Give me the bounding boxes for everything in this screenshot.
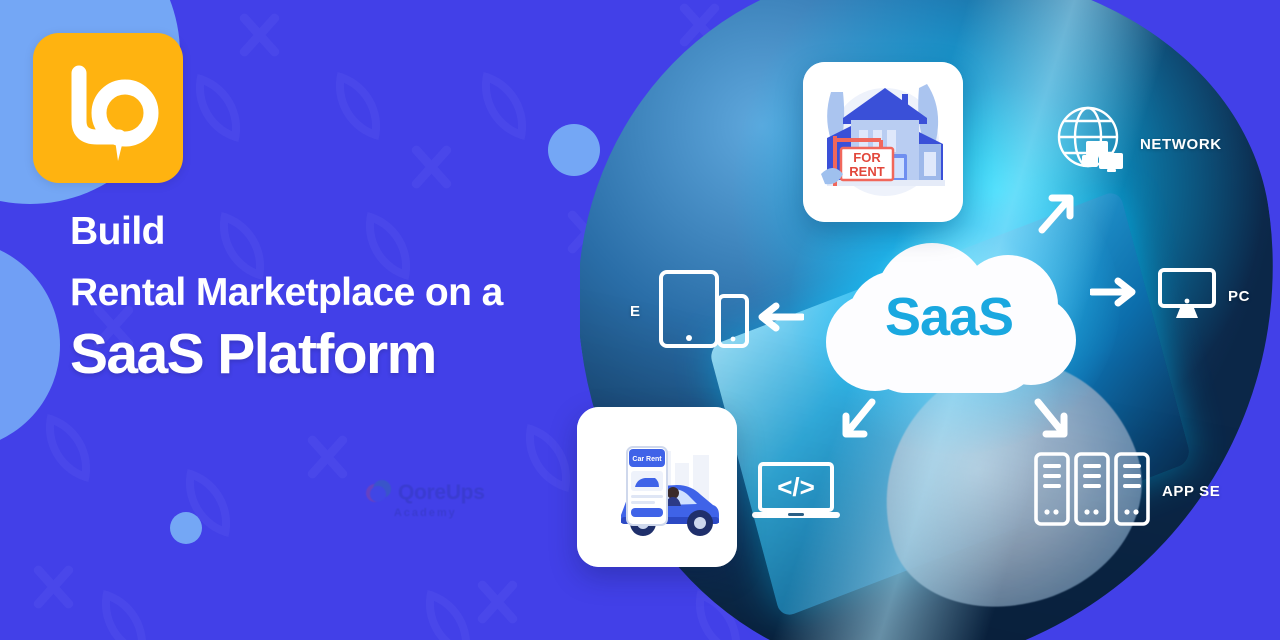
- deco-x-icon: [300, 430, 354, 484]
- deco-x-icon: [404, 140, 458, 194]
- deco-leaf-icon: [414, 590, 482, 640]
- desktop-monitor-icon: [1158, 268, 1216, 325]
- headline-line-2: Rental Marketplace on a: [70, 273, 590, 312]
- node-mobile-label: E: [630, 303, 641, 320]
- headline-line-3: SaaS Platform: [70, 326, 590, 383]
- deco-leaf-icon: [470, 72, 538, 140]
- svg-text:</>: </>: [777, 472, 815, 502]
- node-pc[interactable]: PC: [1158, 268, 1250, 325]
- node-network[interactable]: NETWORK: [1056, 105, 1222, 184]
- node-pc-label: PC: [1228, 288, 1250, 305]
- node-app-server-label: APP SE: [1162, 483, 1220, 500]
- deco-leaf-icon: [514, 424, 582, 492]
- car-rental-illustration: Car Rent: [577, 407, 737, 567]
- arrow-up-right-icon: [1036, 186, 1080, 239]
- deco-leaf-icon: [184, 74, 252, 142]
- watermark-subtitle: Academy: [394, 507, 457, 519]
- watermark-row: QoreUps: [366, 480, 485, 506]
- deco-leaf-icon: [324, 72, 392, 140]
- server-rack-icon: [1034, 452, 1150, 531]
- node-network-label: NETWORK: [1140, 136, 1222, 153]
- qoreups-watermark: QoreUps Academy: [366, 480, 485, 519]
- lp-logo[interactable]: [33, 33, 183, 183]
- promotional-banner: Build Rental Marketplace on a SaaS Platf…: [0, 0, 1280, 640]
- cloud-label: SaaS: [818, 237, 1080, 397]
- qoreups-mark-icon: [366, 480, 392, 506]
- deco-x-icon: [26, 560, 80, 614]
- headline-line-1: Build: [70, 212, 590, 251]
- for-rent-sign-line-2: RENT: [849, 164, 884, 179]
- arrow-right-icon: [1090, 277, 1142, 312]
- deco-circle-medium: [0, 240, 60, 450]
- deco-leaf-icon: [90, 590, 158, 640]
- deco-x-icon: [470, 575, 524, 629]
- arrow-down-right-icon: [1030, 396, 1074, 449]
- car-rental-card[interactable]: Car Rent: [577, 407, 737, 567]
- arrow-down-left-icon: [836, 396, 880, 449]
- node-app-server[interactable]: APP SE: [1034, 452, 1220, 531]
- watermark-name: QoreUps: [398, 481, 485, 505]
- globe-network-icon: [1056, 105, 1128, 184]
- arrow-left-icon: [752, 302, 804, 337]
- deco-circle-small: [170, 512, 202, 544]
- tablet-phone-icon: [659, 270, 749, 353]
- house-for-rent-card[interactable]: FOR RENT: [803, 62, 963, 222]
- car-app-label: Car Rent: [632, 456, 662, 463]
- for-rent-sign-line-1: FOR: [853, 150, 881, 165]
- house-for-rent-illustration: FOR RENT: [803, 62, 963, 222]
- saas-cloud: SaaS: [818, 237, 1080, 397]
- laptop-code-icon: </>: [752, 462, 840, 529]
- deco-x-icon: [232, 8, 286, 62]
- page-title: Build Rental Marketplace on a SaaS Platf…: [70, 212, 590, 383]
- deco-leaf-icon: [34, 414, 102, 482]
- node-mobile[interactable]: E: [630, 270, 749, 353]
